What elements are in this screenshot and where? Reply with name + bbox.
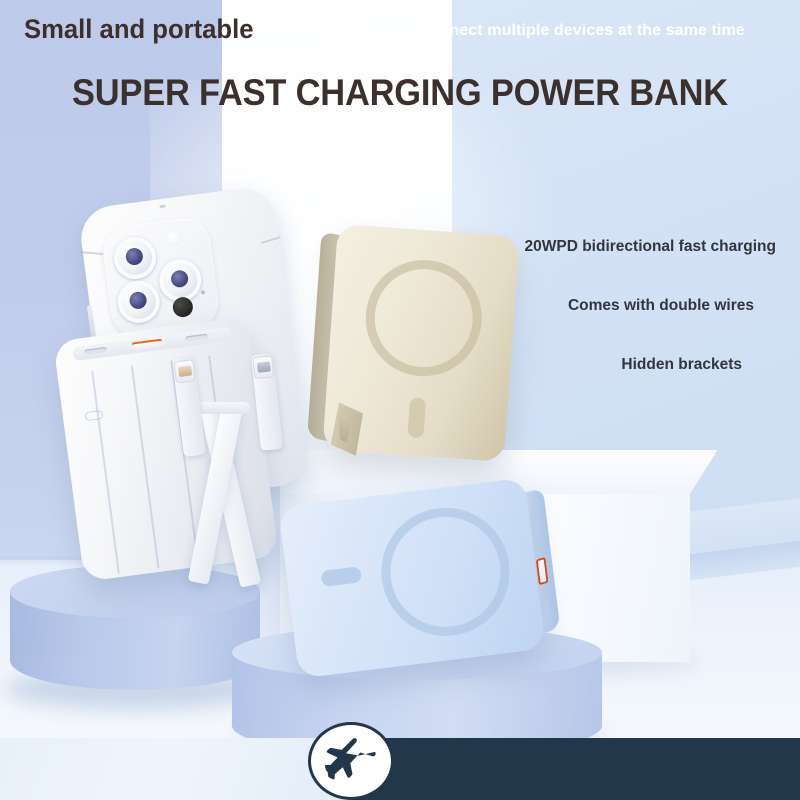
lens-glass bbox=[125, 247, 144, 266]
connector-pin bbox=[257, 361, 271, 372]
camera-flash-icon bbox=[162, 226, 187, 251]
connector-pin bbox=[178, 365, 192, 377]
white-power-bank-with-phone bbox=[28, 196, 308, 606]
beige-indicator-slot bbox=[407, 397, 426, 438]
phone-seam-right bbox=[261, 236, 281, 244]
feature-item: 20WPD bidirectional fast charging bbox=[430, 238, 790, 256]
blue-power-bank bbox=[278, 478, 545, 679]
lens-glass bbox=[129, 291, 148, 310]
blue-bank-face bbox=[278, 478, 545, 679]
feature-item: Comes with double wires bbox=[430, 297, 790, 315]
bank-rib bbox=[131, 366, 160, 569]
bank-rib bbox=[91, 371, 120, 574]
blue-magsafe-ring-icon bbox=[374, 501, 517, 644]
page-title: SUPER FAST CHARGING POWER BANK bbox=[28, 72, 772, 114]
bottom-banner-dark-section bbox=[352, 738, 800, 800]
phone-top-mic bbox=[159, 205, 165, 209]
feature-list: 20WPD bidirectional fast charging Comes … bbox=[430, 238, 790, 374]
camera-lens-ultrawide bbox=[115, 278, 162, 325]
blue-indicator-slot bbox=[320, 566, 362, 587]
product-banner: SUPER FAST CHARGING POWER BANK 20WPD bid… bbox=[0, 0, 800, 800]
lens-glass bbox=[170, 269, 189, 288]
usb-c-connector-tip bbox=[252, 355, 274, 379]
bank-logo-mark bbox=[85, 410, 104, 421]
lightning-connector-tip bbox=[173, 359, 196, 383]
bottom-banner bbox=[0, 738, 800, 800]
lidar-sensor-icon bbox=[172, 296, 194, 318]
camera-lens-wide bbox=[111, 234, 158, 281]
bottom-banner-light-section bbox=[0, 738, 360, 800]
camera-microphone-dot bbox=[201, 290, 205, 294]
kickstand-hinge bbox=[198, 402, 250, 414]
feature-item: Hidden brackets bbox=[430, 356, 790, 374]
airplane-icon bbox=[308, 722, 394, 800]
bottom-right-text: Connect multiple devices at the same tim… bbox=[418, 22, 745, 40]
bottom-left-text: Small and portable bbox=[24, 14, 253, 45]
